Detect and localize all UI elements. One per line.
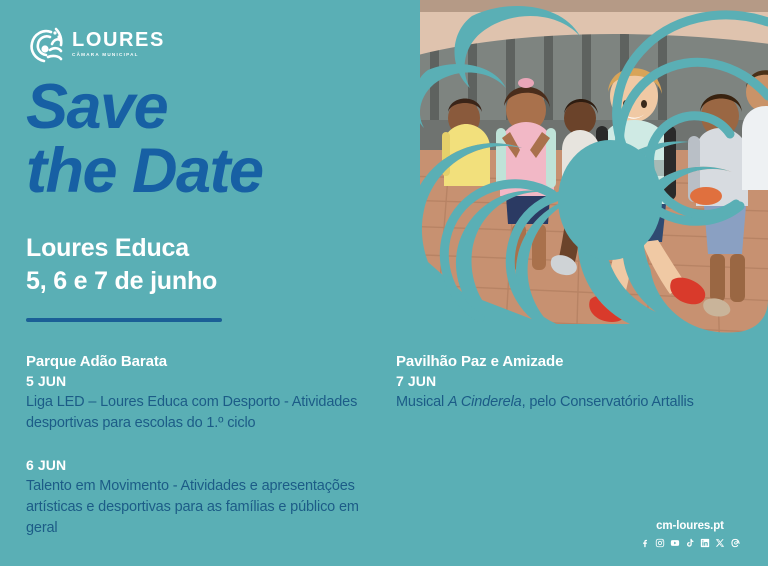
hero-line-2: the Date [26, 142, 456, 202]
event-description: Talento em Movimento - Atividades e apre… [26, 476, 382, 539]
children-running-photo [420, 0, 768, 340]
event-description-pre: Musical [396, 394, 448, 410]
hero-line-1: Save [26, 78, 456, 138]
event-venue: Pavilhão Paz e Amizade [396, 351, 736, 372]
logo[interactable]: LOURES CÂMARA MUNICIPAL [26, 24, 165, 64]
event-item: 6 JUN Talento em Movimento - Atividades … [26, 456, 382, 539]
event-date: 7 JUN [396, 372, 736, 392]
facebook-icon[interactable] [640, 538, 650, 548]
logo-wordmark: LOURES CÂMARA MUNICIPAL [72, 30, 165, 58]
social-links [640, 538, 740, 548]
event-name: Loures Educa [26, 232, 446, 265]
poster-canvas: LOURES CÂMARA MUNICIPAL Save the Date Lo… [0, 0, 768, 566]
event-item: Pavilhão Paz e Amizade 7 JUN Musical A C… [396, 351, 736, 413]
divider-rule [26, 318, 222, 322]
event-venue: Parque Adão Barata [26, 351, 382, 372]
event-description-text: Talento em Movimento - Atividades e apre… [26, 478, 359, 536]
logo-name: LOURES [72, 30, 165, 50]
event-description-emphasis: A Cinderela [448, 394, 522, 410]
event-description-text: Liga LED – Loures Educa com Desporto - A… [26, 394, 357, 431]
threads-icon[interactable] [730, 538, 740, 548]
event-date: 5 JUN [26, 372, 382, 392]
hero-title: Save the Date [26, 78, 456, 202]
event-description: Musical A Cinderela, pelo Conservatório … [396, 392, 736, 413]
event-date: 6 JUN [26, 456, 382, 476]
event-description: Liga LED – Loures Educa com Desporto - A… [26, 392, 382, 434]
event-dates: 5, 6 e 7 de junho [26, 265, 446, 298]
artwork-photo-region [420, 0, 768, 340]
fingerprint-swirl-icon [26, 24, 64, 64]
event-subtitle: Loures Educa 5, 6 e 7 de junho [26, 232, 446, 298]
event-item: Parque Adão Barata 5 JUN Liga LED – Lour… [26, 351, 382, 434]
footer: cm-loures.pt [640, 521, 740, 549]
tiktok-icon[interactable] [685, 538, 695, 548]
x-twitter-icon[interactable] [715, 538, 725, 548]
logo-subtitle: CÂMARA MUNICIPAL [72, 53, 165, 58]
event-description-post: , pelo Conservatório Artallis [522, 394, 694, 410]
events-column-right: Pavilhão Paz e Amizade 7 JUN Musical A C… [396, 351, 736, 413]
website-url[interactable]: cm-loures.pt [640, 521, 740, 533]
events-column-left: Parque Adão Barata 5 JUN Liga LED – Lour… [26, 351, 382, 539]
linkedin-icon[interactable] [700, 538, 710, 548]
instagram-icon[interactable] [655, 538, 665, 548]
youtube-icon[interactable] [670, 538, 680, 548]
